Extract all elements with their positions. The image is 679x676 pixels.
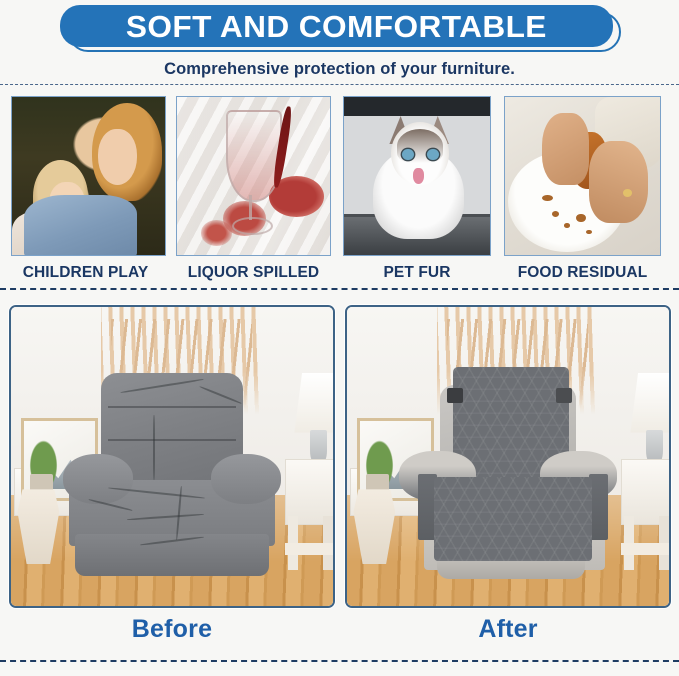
before-after-comparison: Before: [0, 305, 679, 665]
feature-thumbnail-liquor-spilled: [176, 96, 331, 256]
feature-thumbnail-children-play: [11, 96, 166, 256]
banner-solid-shape: SOFT AND COMFORTABLE: [60, 5, 613, 47]
after-image-frame: [345, 305, 671, 608]
feature-item-food-residual: FOOD RESIDUAL: [504, 96, 661, 282]
comparison-panel-after: After: [345, 305, 671, 642]
feature-thumbnail-pet-fur: [343, 96, 491, 256]
feature-item-pet-fur: PET FUR: [343, 96, 491, 282]
before-image-frame: [9, 305, 335, 608]
feature-thumbnail-food-residual: [504, 96, 661, 256]
page-title: SOFT AND COMFORTABLE: [126, 11, 547, 42]
food-residual-illustration: [505, 97, 660, 255]
before-scene-illustration: [11, 307, 333, 606]
feature-label-pet-fur: PET FUR: [343, 264, 491, 282]
comparison-label-before: Before: [9, 617, 335, 642]
feature-label-food-residual: FOOD RESIDUAL: [504, 264, 661, 282]
comparison-label-after: After: [345, 617, 671, 642]
feature-item-children-play: CHILDREN PLAY: [11, 96, 166, 282]
feature-label-liquor-spilled: LIQUOR SPILLED: [176, 264, 331, 282]
after-scene-illustration: [347, 307, 669, 606]
feature-row: CHILDREN PLAY LIQUOR SPILLED PET FUR: [0, 96, 679, 286]
liquor-spilled-illustration: [177, 97, 330, 255]
children-play-illustration: [12, 97, 165, 255]
feature-label-children-play: CHILDREN PLAY: [5, 264, 166, 282]
divider-bottom: [0, 660, 679, 662]
page-subtitle: Comprehensive protection of your furnitu…: [0, 61, 679, 78]
divider-top: [0, 84, 679, 85]
pet-fur-illustration: [344, 97, 490, 255]
comparison-panel-before: Before: [9, 305, 335, 642]
divider-middle: [0, 288, 679, 290]
header-banner: SOFT AND COMFORTABLE: [0, 0, 679, 52]
feature-item-liquor-spilled: LIQUOR SPILLED: [176, 96, 331, 282]
